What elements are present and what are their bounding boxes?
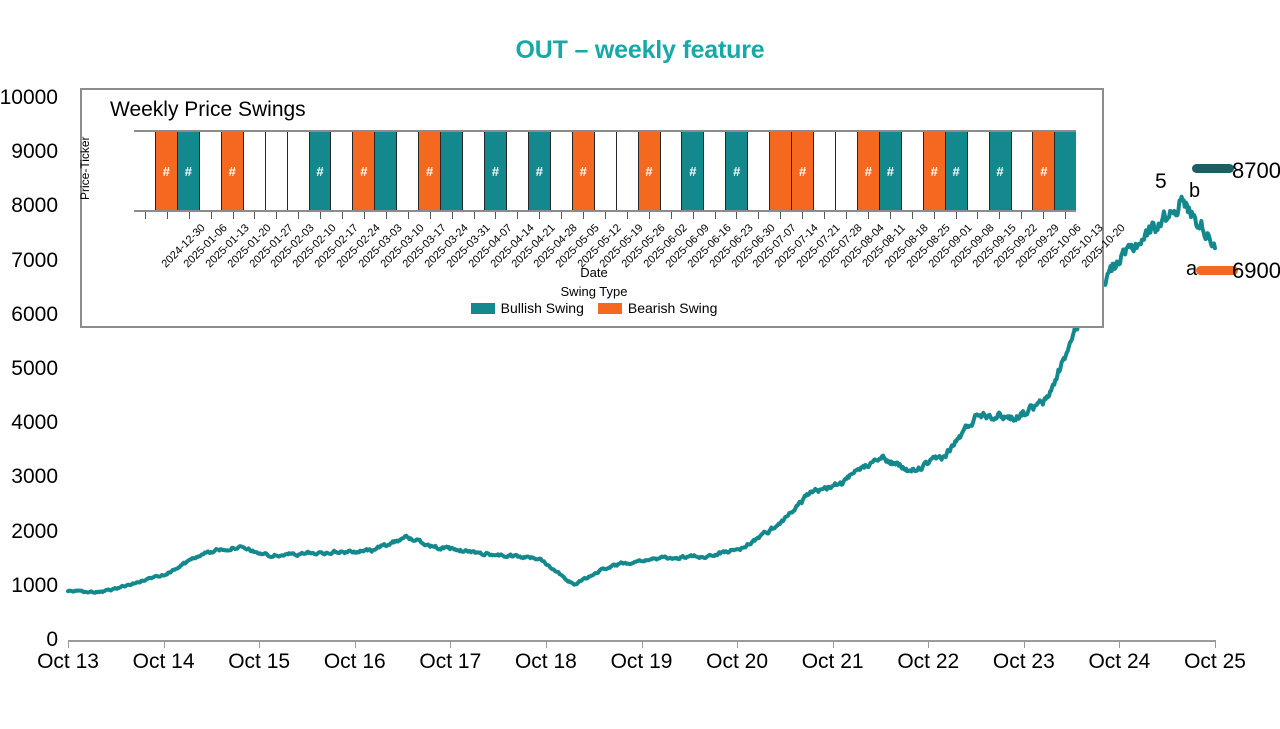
swing-cell-2025-04-21[interactable]: # [484,132,506,210]
inset-tick-2025-07-14 [758,212,759,219]
x-tick-oct-15: Oct 15 [228,650,290,674]
x-tick-mark-3 [355,640,356,648]
swing-marker: # [733,164,740,179]
inset-tick-2025-05-05 [539,212,540,219]
x-tick-oct-20: Oct 20 [706,650,768,674]
inset-tick-2025-03-10 [364,212,365,219]
swing-marker: # [580,164,587,179]
inset-tick-2025-05-19 [583,212,584,219]
y-tick-3000: 3000 [0,465,58,489]
inset-tick-2025-10-06 [1021,212,1022,219]
inset-tick-2025-08-04 [824,212,825,219]
inset-tick-2025-06-02 [627,212,628,219]
swing-marker: # [360,164,367,179]
swing-cell-2025-10-20[interactable] [1054,132,1076,210]
inset-tick-2025-06-30 [715,212,716,219]
page-title: OUT – weekly feature [0,36,1280,65]
y-tick-8000: 8000 [0,194,58,218]
swing-cell-2025-09-15[interactable]: # [945,132,967,210]
inset-x-axis-label: Date [82,265,1106,280]
swing-cell-2025-02-24[interactable]: # [309,132,331,210]
y-tick-6000: 6000 [0,303,58,327]
x-tick-mark-0 [68,640,69,648]
x-tick-mark-4 [450,640,451,648]
inset-y-axis-label: Price-Ticker [78,136,92,200]
swing-cell-2025-02-17[interactable] [287,132,309,210]
legend: Bullish SwingBearish Swing [82,300,1106,316]
marker-b-value: 8700 [1232,158,1280,184]
swing-cell-2025-04-28[interactable] [506,132,528,210]
swing-cell-2025-01-13[interactable]: # [177,132,199,210]
x-tick-oct-19: Oct 19 [611,650,673,674]
swing-cell-2025-09-01[interactable] [901,132,923,210]
inset-tick-2025-08-18 [868,212,869,219]
inset-tick-2025-03-31 [430,212,431,219]
inset-tick-2025-04-14 [474,212,475,219]
swing-cell-2025-06-02[interactable] [616,132,638,210]
inset-tick-2025-09-22 [977,212,978,219]
swing-cell-2025-01-20[interactable] [199,132,221,210]
swing-cell-2025-03-24[interactable] [396,132,418,210]
y-tick-2000: 2000 [0,520,58,544]
inset-tick-2025-02-10 [276,212,277,219]
swing-cell-2025-05-12[interactable] [550,132,572,210]
swing-cell-2025-01-06[interactable]: # [155,132,177,210]
inset-panel: Weekly Price Swings Price-Ticker #######… [80,88,1104,328]
swing-cell-2025-08-11[interactable] [835,132,857,210]
chart-canvas: OUT – weekly feature 0100020003000400050… [0,0,1280,729]
swing-cell-2025-03-03[interactable] [330,132,352,210]
inset-tick-2025-01-13 [189,212,190,219]
swing-cell-2025-09-29[interactable]: # [989,132,1011,210]
legend-title: Swing Type [82,284,1106,299]
swing-cell-2025-07-14[interactable] [747,132,769,210]
weekly-swing-band: ################### [134,130,1076,212]
x-tick-oct-22: Oct 22 [897,650,959,674]
swing-cell-2025-03-10[interactable]: # [352,132,374,210]
inset-tick-2025-07-07 [736,212,737,219]
x-tick-mark-2 [259,640,260,648]
inset-tick-2025-01-27 [233,212,234,219]
swing-cell-2025-02-03[interactable] [243,132,265,210]
swing-marker: # [163,164,170,179]
inset-tick-2025-07-28 [802,212,803,219]
legend-swatch [598,303,622,314]
swing-marker: # [426,164,433,179]
swing-cell-2025-08-18[interactable]: # [857,132,879,210]
x-tick-oct-23: Oct 23 [993,650,1055,674]
inset-x-axis [134,212,1076,219]
swing-cell-2025-07-21[interactable] [769,132,791,210]
swing-marker: # [931,164,938,179]
x-tick-mark-10 [1024,640,1025,648]
inset-tick-2025-02-17 [298,212,299,219]
x-tick-oct-21: Oct 21 [802,650,864,674]
swing-cell-2025-04-14[interactable] [462,132,484,210]
inset-tick-2025-09-08 [934,212,935,219]
inset-tick-2025-03-03 [342,212,343,219]
swing-cell-2025-03-17[interactable] [374,132,396,210]
inset-tick-2025-01-20 [211,212,212,219]
inset-tick-2025-08-11 [846,212,847,219]
inset-tick-2024-12-30 [145,212,146,219]
swing-marker: # [229,164,236,179]
x-tick-oct-24: Oct 24 [1088,650,1150,674]
inset-tick-2025-01-06 [167,212,168,219]
x-tick-oct-13: Oct 13 [37,650,99,674]
swing-marker: # [799,164,806,179]
swing-cell-2025-02-10[interactable] [265,132,287,210]
swing-marker: # [185,164,192,179]
inset-tick-2025-08-25 [890,212,891,219]
inset-tick-2025-03-17 [386,212,387,219]
swing-marker: # [645,164,652,179]
marker-b-letter: b [1189,180,1200,203]
legend-swatch [471,303,495,314]
inset-title: Weekly Price Swings [110,98,306,122]
y-tick-10000: 10000 [0,86,58,110]
x-tick-mark-12 [1215,640,1216,648]
inset-tick-2025-10-20 [1065,212,1066,219]
inset-tick-2025-03-24 [408,212,409,219]
legend-item-bearish-swing[interactable]: Bearish Swing [598,300,718,316]
marker-b-swatch [1192,164,1234,173]
x-tick-oct-18: Oct 18 [515,650,577,674]
swing-marker: # [536,164,543,179]
legend-item-bullish-swing[interactable]: Bullish Swing [471,300,584,316]
swing-cell-2025-05-05[interactable]: # [528,132,550,210]
swing-cell-2025-06-16[interactable] [660,132,682,210]
inset-tick-2025-06-23 [693,212,694,219]
x-tick-oct-17: Oct 17 [419,650,481,674]
swing-cell-2025-03-31[interactable]: # [418,132,440,210]
swing-marker: # [492,164,499,179]
swing-cell-2025-08-25[interactable]: # [879,132,901,210]
y-tick-7000: 7000 [0,249,58,273]
inset-tick-2025-06-16 [671,212,672,219]
x-tick-mark-1 [164,640,165,648]
inset-tick-2025-05-12 [561,212,562,219]
x-tick-oct-16: Oct 16 [324,650,386,674]
x-tick-mark-9 [928,640,929,648]
swing-cell-2025-10-06[interactable] [1011,132,1033,210]
x-tick-mark-6 [642,640,643,648]
x-tick-mark-11 [1119,640,1120,648]
swing-cell-2025-08-04[interactable] [813,132,835,210]
inset-tick-2025-02-24 [320,212,321,219]
swing-cell-2025-09-22[interactable] [967,132,989,210]
swing-marker: # [996,164,1003,179]
x-tick-mark-5 [546,640,547,648]
y-tick-5000: 5000 [0,357,58,381]
swing-marker: # [316,164,323,179]
swing-cell-2025-05-19[interactable]: # [572,132,594,210]
swing-marker: # [953,164,960,179]
inset-tick-2025-04-07 [452,212,453,219]
inset-tick-2025-09-01 [912,212,913,219]
inset-tick-2025-02-03 [254,212,255,219]
swing-cell-2025-06-23[interactable]: # [681,132,703,210]
y-tick-9000: 9000 [0,140,58,164]
swing-cell-2025-09-08[interactable]: # [923,132,945,210]
inset-tick-2025-05-26 [605,212,606,219]
legend-label: Bearish Swing [628,300,718,316]
marker-a-value: 6900 [1232,258,1280,284]
legend-label: Bullish Swing [501,300,584,316]
inset-tick-2025-06-09 [649,212,650,219]
y-tick-4000: 4000 [0,411,58,435]
swing-marker: # [887,164,894,179]
swing-cell-2025-05-26[interactable] [594,132,616,210]
x-tick-oct-25: Oct 25 [1184,650,1246,674]
swing-marker: # [865,164,872,179]
swing-cell-2025-07-07[interactable]: # [725,132,747,210]
swing-marker: # [1040,164,1047,179]
swing-cell-2025-10-13[interactable]: # [1032,132,1054,210]
inset-tick-2025-07-21 [780,212,781,219]
y-tick-0: 0 [0,628,58,652]
x-tick-mark-8 [833,640,834,648]
x-tick-mark-7 [737,640,738,648]
y-tick-1000: 1000 [0,574,58,598]
swing-cell-2025-04-07[interactable] [440,132,462,210]
swing-cell-2024-12-30[interactable] [134,132,155,210]
x-tick-oct-14: Oct 14 [133,650,195,674]
swing-marker: # [689,164,696,179]
swing-cell-2025-06-30[interactable] [703,132,725,210]
swing-cell-2025-06-09[interactable]: # [638,132,660,210]
swing-cell-2025-07-28[interactable]: # [791,132,813,210]
inset-tick-2025-09-15 [956,212,957,219]
peak-annotation-label: 5 [1155,170,1167,194]
inset-tick-2025-04-21 [495,212,496,219]
inset-tick-2025-10-13 [1043,212,1044,219]
swing-cell-2025-01-27[interactable]: # [221,132,243,210]
inset-tick-2025-04-28 [517,212,518,219]
inset-tick-2025-09-29 [999,212,1000,219]
